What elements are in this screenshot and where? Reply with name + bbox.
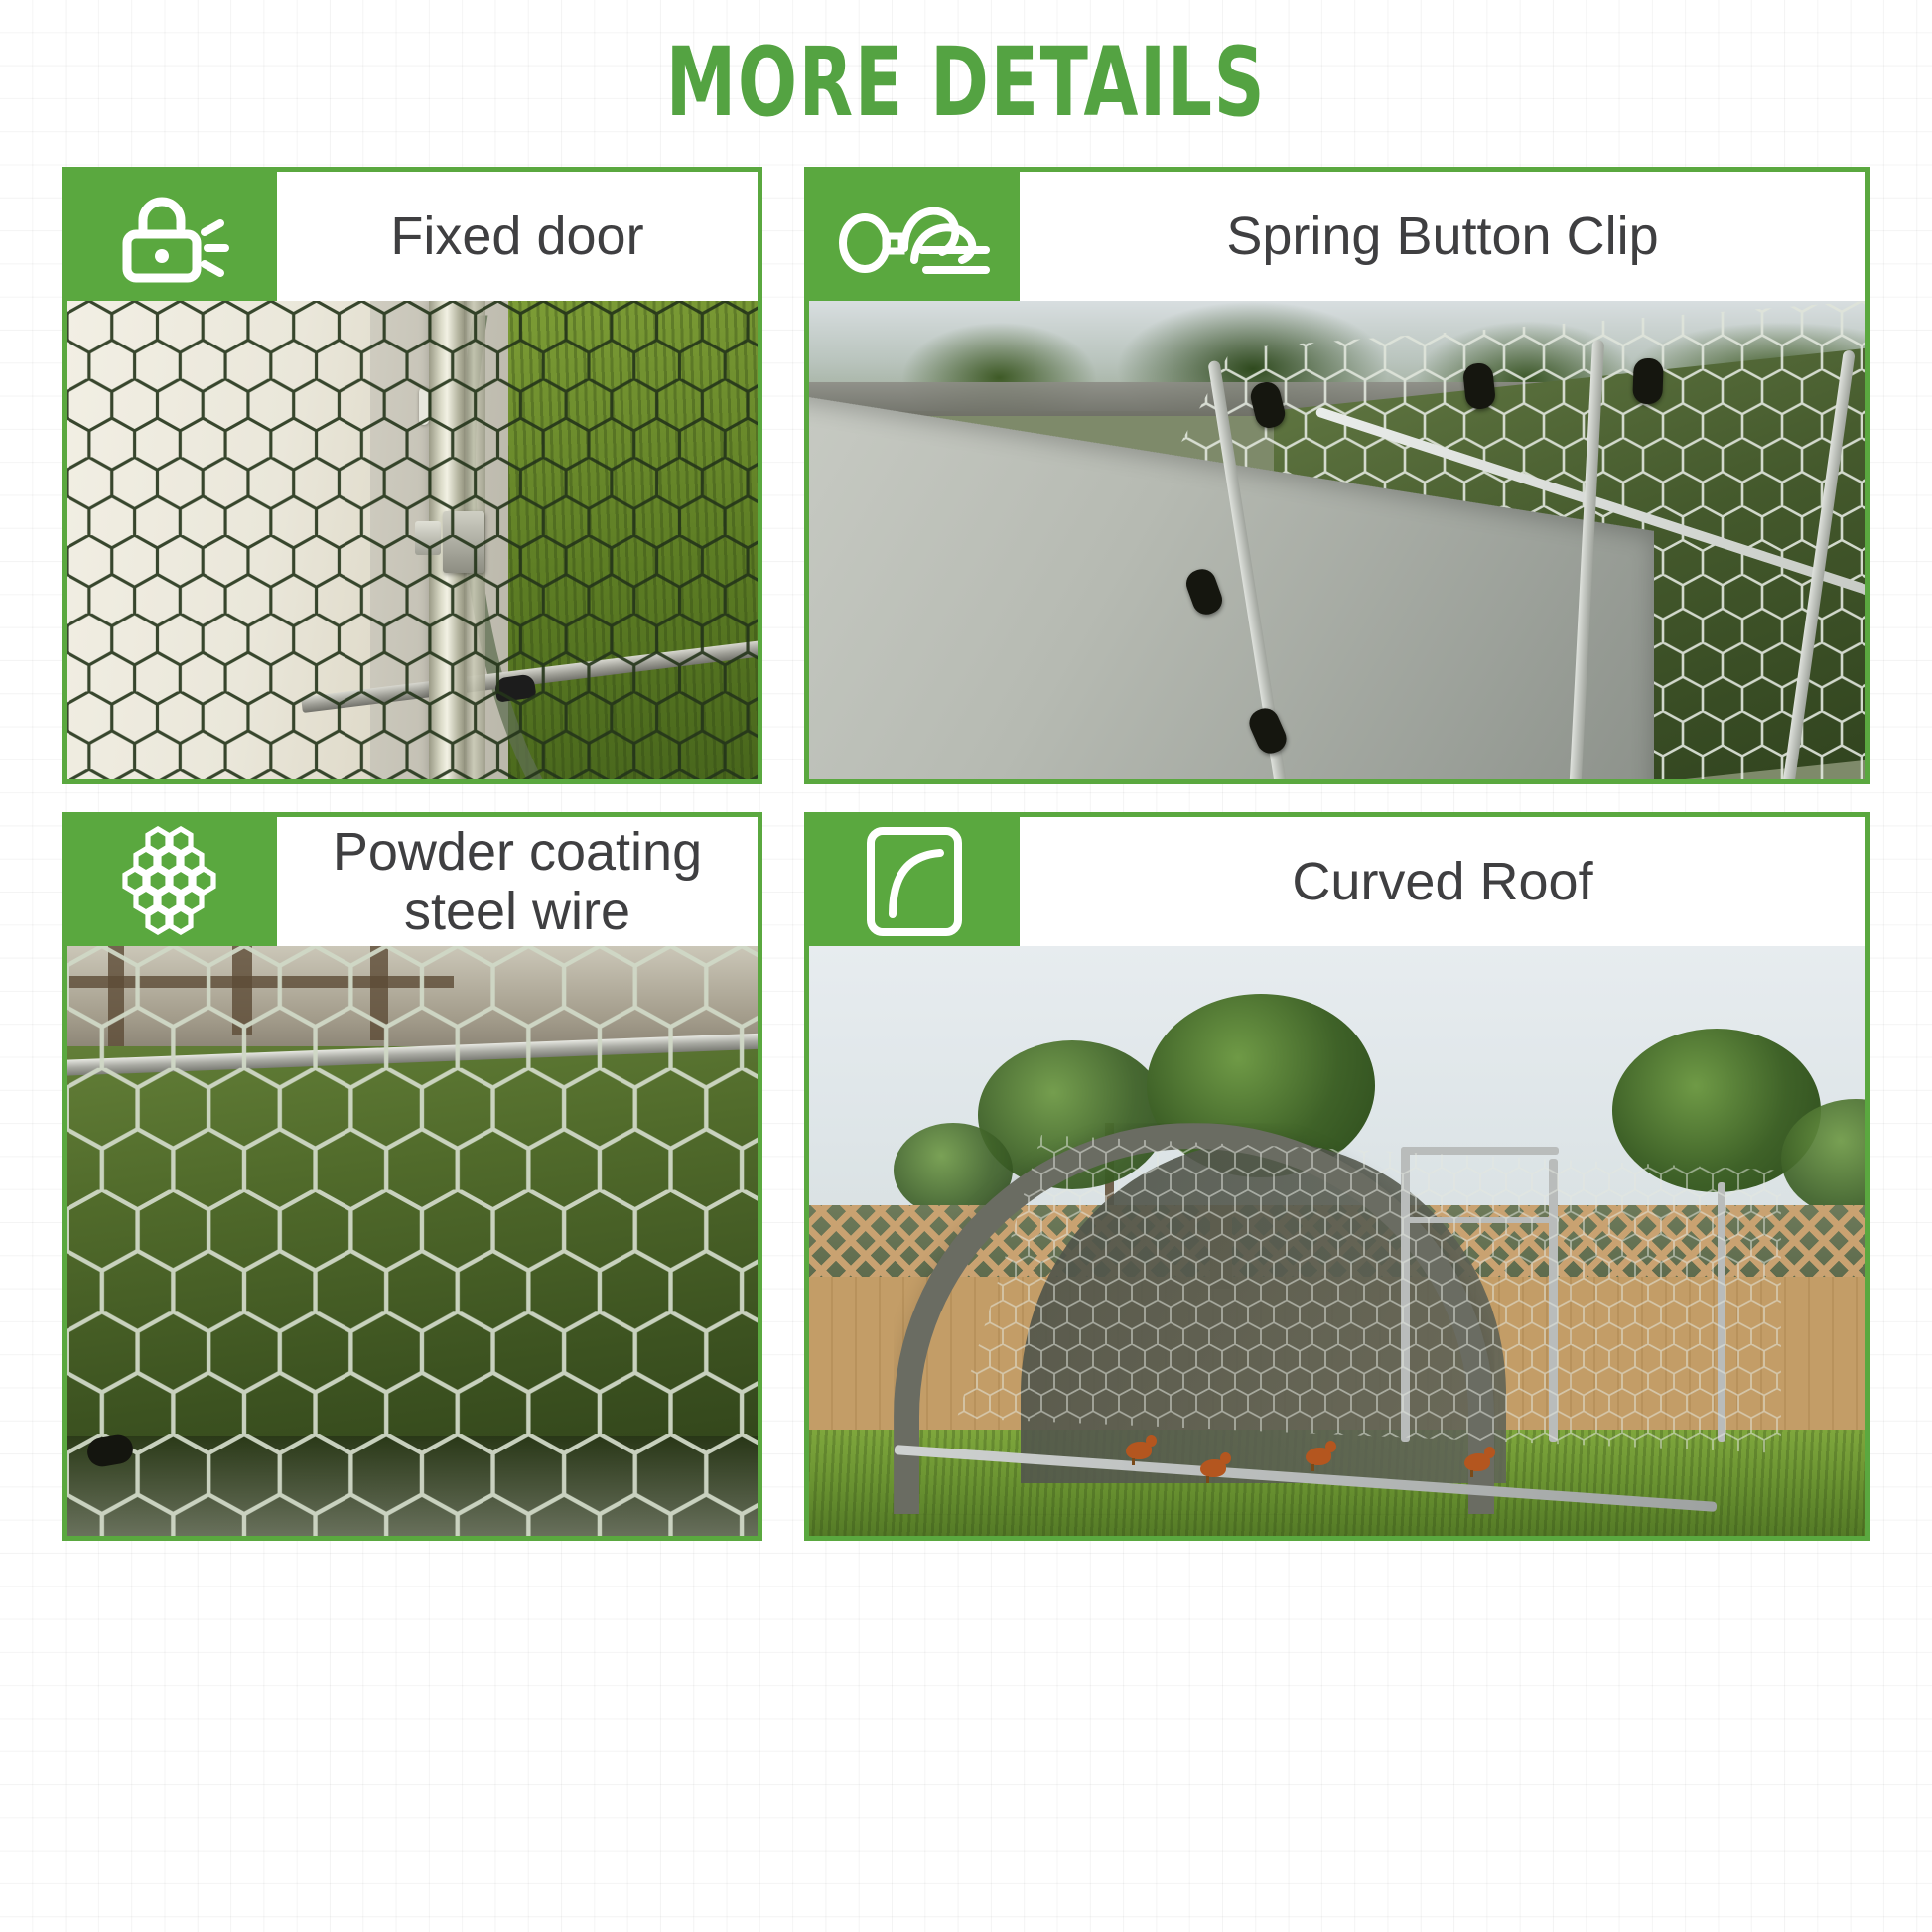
icon-block [67,172,277,301]
panel-title: Curved Roof [1020,817,1865,946]
panel-title: Fixed door [277,172,758,301]
panel-photo [67,946,758,1536]
panel-photo [67,301,758,779]
unlock-padlock-icon [113,185,230,288]
panel-title: Powder coating steel wire [277,817,758,946]
panel-title: Spring Button Clip [1020,172,1865,301]
feature-panel-fixed-door: Fixed door [62,167,762,784]
icon-block [809,817,1020,946]
feature-panel-powder-coating-steel-wire: Powder coating steel wire [62,812,762,1541]
spring-button-clip-icon [839,189,990,284]
feature-panel-spring-button-clip: Spring Button Clip [804,167,1870,784]
panel-header: Powder coating steel wire [67,817,758,946]
panel-header: Curved Roof [809,817,1865,946]
infographic-root: MORE DETAILS Fixed door [0,0,1932,1932]
panel-photo [809,946,1865,1536]
icon-block [809,172,1020,301]
panel-header: Fixed door [67,172,758,301]
feature-panel-curved-roof: Curved Roof [804,812,1870,1541]
curved-roof-icon [863,823,966,940]
page-title: MORE DETAILS [174,28,1758,137]
icon-block [67,817,277,946]
panel-photo [809,301,1865,779]
panel-header: Spring Button Clip [809,172,1865,301]
honeycomb-mesh-icon [113,823,230,940]
